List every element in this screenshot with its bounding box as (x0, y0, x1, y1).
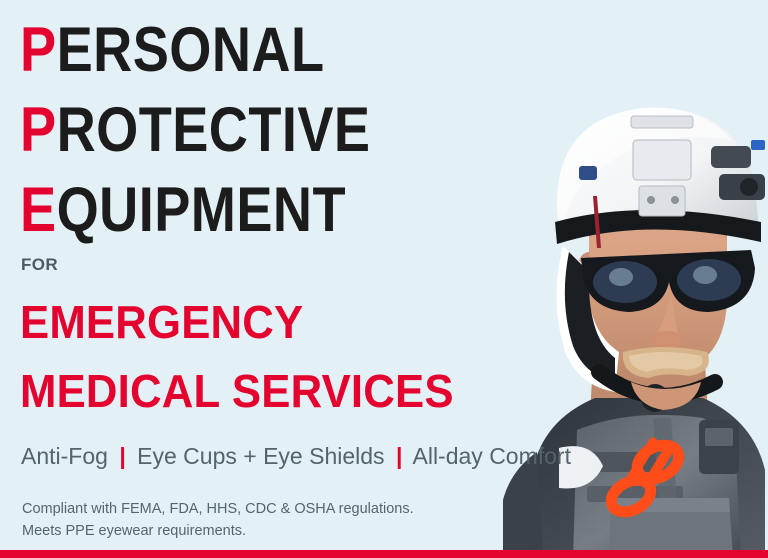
headline-line-2-rest: ROTECTIVE (57, 95, 371, 165)
subheadline: EMERGENCY MEDICAL SERVICES (20, 288, 476, 426)
feature-list: Anti-Fog | Eye Cups + Eye Shields | All-… (21, 443, 571, 470)
responder-photo (503, 0, 768, 558)
subheadline-line-2: MEDICAL SERVICES (20, 357, 454, 426)
subheadline-line-1: EMERGENCY (20, 288, 454, 357)
headline-line-3-initial: E (20, 175, 57, 245)
headline-line-2: PROTECTIVE (20, 90, 371, 170)
headline-line-1-initial: P (20, 15, 57, 85)
fineprint-line-1: Compliant with FEMA, FDA, HHS, CDC & OSH… (22, 498, 414, 520)
feature-item-3: All-day Comfort (413, 443, 571, 469)
feature-item-2: Eye Cups + Eye Shields (137, 443, 384, 469)
fineprint-line-2: Meets PPE eyewear requirements. (22, 520, 414, 542)
headline-line-1: PERSONAL (20, 10, 371, 90)
fineprint: Compliant with FEMA, FDA, HHS, CDC & OSH… (22, 498, 414, 542)
ppe-ems-banner: PERSONAL PROTECTIVE EQUIPMENT FOR EMERGE… (0, 0, 768, 558)
for-label: FOR (21, 255, 58, 275)
bottom-red-rule (0, 550, 768, 558)
headline: PERSONAL PROTECTIVE EQUIPMENT (20, 10, 428, 250)
feature-separator-1: | (114, 443, 130, 469)
headline-line-2-initial: P (20, 95, 57, 165)
headline-line-3: EQUIPMENT (20, 170, 371, 250)
feature-separator-2: | (391, 443, 407, 469)
feature-item-1: Anti-Fog (21, 443, 108, 469)
headline-line-1-rest: ERSONAL (57, 15, 325, 85)
headline-line-3-rest: QUIPMENT (57, 175, 346, 245)
